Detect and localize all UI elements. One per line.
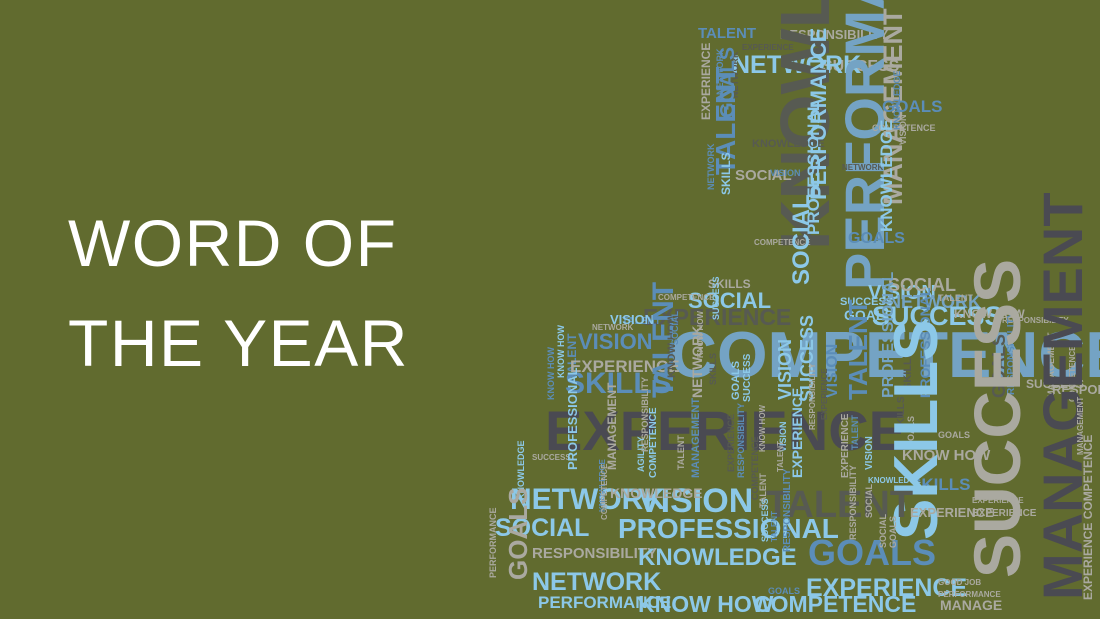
cloud-word: KNOW HOW bbox=[548, 347, 555, 400]
cloud-word: SUCCESS bbox=[762, 498, 769, 542]
cloud-word: MANAGEMENT bbox=[692, 398, 701, 478]
cloud-word: EXPERIENCE bbox=[972, 510, 1036, 518]
cloud-word: KNOWLEDGE bbox=[880, 120, 894, 232]
wordcloud-words: TALENTRESPONSIBILITYSUCCESSNETWORKNETWOR… bbox=[470, 0, 1100, 619]
cloud-word: SUCCESS bbox=[744, 354, 752, 402]
cloud-word: GOALS bbox=[508, 488, 529, 580]
cloud-word: TALENT bbox=[852, 415, 859, 450]
cloud-word: NETWORK bbox=[708, 144, 715, 191]
cloud-word: KNOWLEDGE bbox=[638, 548, 797, 568]
cloud-word: RESPONSIBILITY bbox=[738, 403, 745, 478]
cloud-word: VISION bbox=[900, 114, 907, 145]
cloud-word: SKILLS bbox=[722, 152, 732, 195]
cloud-word: COMPETENCE bbox=[650, 407, 658, 478]
cloud-word: PROFESSIONAL bbox=[618, 518, 839, 541]
cloud-word: NETWORK bbox=[532, 572, 661, 593]
cloud-word: EXPERIENCE bbox=[728, 414, 735, 472]
cloud-word: SKILLS bbox=[710, 353, 717, 385]
cloud-word: NETWORK bbox=[592, 325, 633, 332]
cloud-word: GOALS bbox=[808, 538, 936, 568]
cloud-word: VISION bbox=[578, 333, 653, 351]
cloud-word: MANAGE bbox=[940, 600, 1002, 611]
cloud-word: TALENT bbox=[772, 511, 779, 542]
title-line-2: THE YEAR bbox=[68, 293, 498, 393]
cloud-word: MANAGEMENT bbox=[608, 383, 618, 470]
title-line-1: WORD OF bbox=[68, 193, 498, 293]
cloud-word: GOALS bbox=[732, 361, 741, 400]
cloud-word: SOCIAL bbox=[792, 194, 812, 285]
cloud-word: EXPERIENCE bbox=[822, 368, 829, 420]
cloud-word: SOCIAL bbox=[880, 514, 887, 548]
cloud-word: TALENT bbox=[848, 299, 869, 400]
cloud-word: EXPERIENCE bbox=[972, 498, 1024, 505]
cloud-word: GOALS bbox=[848, 232, 905, 245]
cloud-word: VISION bbox=[770, 170, 801, 177]
cloud-word: SOCIAL bbox=[672, 311, 679, 345]
cloud-word: EXPERIENCE COMPETENCE bbox=[1084, 435, 1094, 600]
page-title: WORD OF THE YEAR bbox=[68, 193, 498, 394]
cloud-word: RESPONSIBILITY bbox=[642, 377, 649, 452]
cloud-word: SUCCESS bbox=[970, 259, 1024, 578]
cloud-word: TALENT bbox=[778, 441, 785, 472]
cloud-word: KNOWLEDGE bbox=[752, 140, 825, 149]
cloud-word: TALENT bbox=[698, 28, 756, 40]
cloud-word: GOOD JOB bbox=[938, 580, 981, 587]
cloud-word: SOCIAL bbox=[866, 484, 873, 518]
cloud-word: KNOW HOW bbox=[760, 405, 767, 452]
cloud-word: KNOW HOW bbox=[698, 311, 705, 358]
cloud-word: RESPONSIBILITY bbox=[850, 465, 857, 540]
cloud-word: KNOWLEDGE bbox=[610, 488, 703, 499]
slide-canvas: WORD OF THE YEAR TALENTRESPONSIBILITYSUC… bbox=[0, 0, 1100, 619]
cloud-word: PROFESSIONAL bbox=[568, 367, 579, 470]
cloud-word: SUCCESS bbox=[713, 276, 720, 320]
cloud-word: PERFORMANCE bbox=[490, 507, 497, 578]
cloud-word: EXPERIENCE bbox=[792, 388, 803, 478]
cloud-word: VISION bbox=[866, 436, 874, 470]
cloud-word: RESPONSIBILITY bbox=[810, 363, 817, 430]
wordcloud-figure: TALENTRESPONSIBILITYSUCCESSNETWORKNETWOR… bbox=[470, 0, 1100, 619]
cloud-word: TALENT bbox=[678, 435, 685, 470]
cloud-word: GOALS bbox=[890, 516, 897, 548]
cloud-word: COMPETENCE bbox=[602, 464, 609, 520]
cloud-word: RESPONSIBILITY bbox=[784, 469, 792, 552]
